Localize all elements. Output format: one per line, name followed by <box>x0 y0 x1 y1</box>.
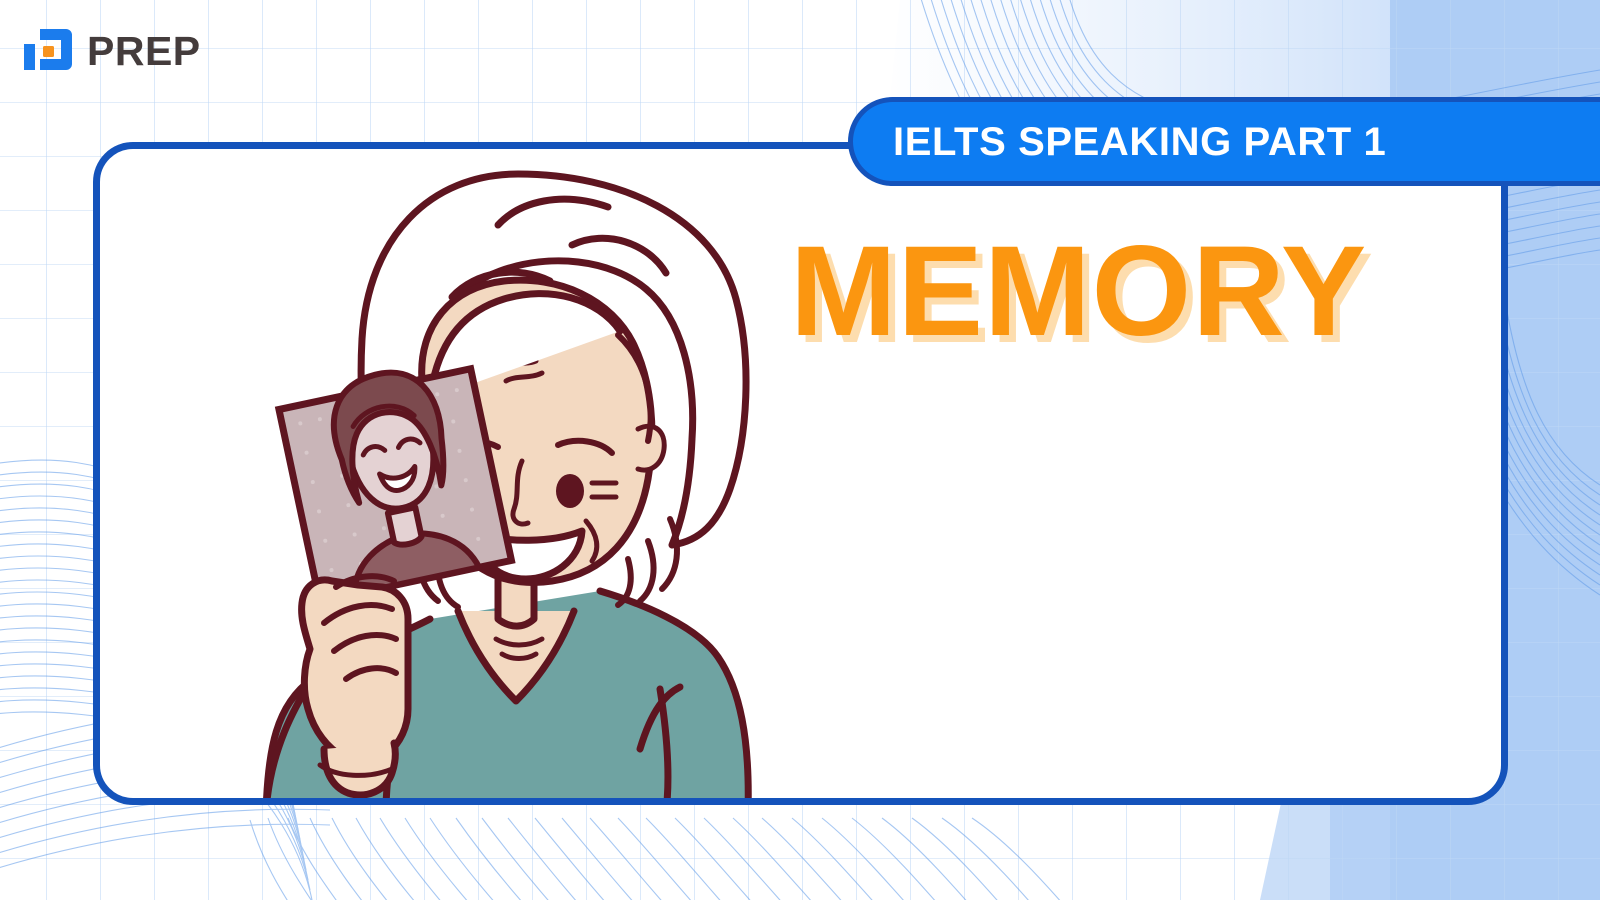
prep-logo-text: PREP <box>87 31 201 72</box>
held-photograph <box>276 355 511 601</box>
banner-label: IELTS SPEAKING PART 1 <box>853 122 1386 162</box>
prep-logo[interactable]: PREP <box>22 23 201 79</box>
elderly-woman-illustration <box>100 149 860 805</box>
page-title: MEMORY <box>790 228 1367 356</box>
poster-canvas: PREP <box>0 0 1600 900</box>
title-banner: IELTS SPEAKING PART 1 <box>848 97 1600 186</box>
prep-logo-mark-icon <box>22 23 78 79</box>
